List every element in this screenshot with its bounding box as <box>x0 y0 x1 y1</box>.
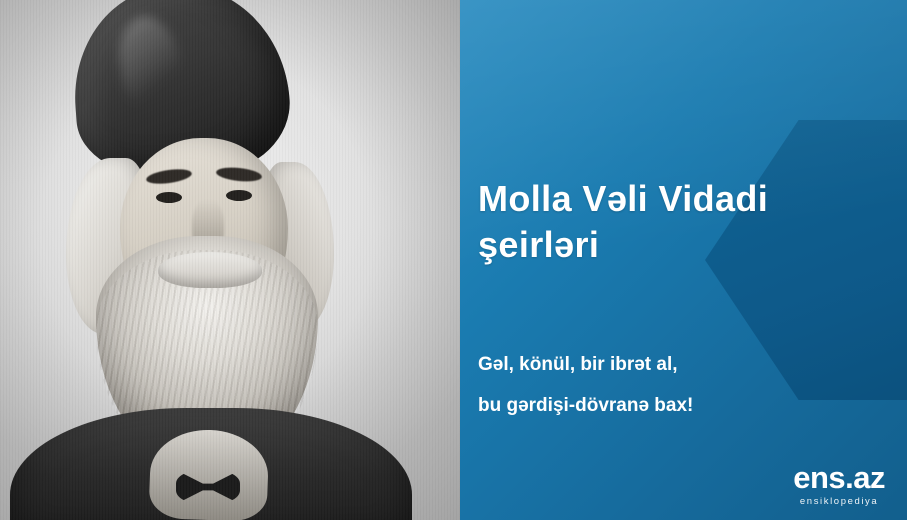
logo-tagline: ensiklopediya <box>793 497 885 507</box>
portrait-image <box>0 0 460 520</box>
site-logo[interactable]: ens.az ensiklopediya <box>793 462 885 507</box>
text-panel: Molla Vəli Vidadi şeirləri Gəl, könül, b… <box>460 0 907 520</box>
logo-wordmark: ens.az <box>793 462 885 493</box>
quote-line-2: bu gərdişi-dövranə bax! <box>478 396 878 415</box>
quote-line-1: Gəl, könül, bir ibrət al, <box>478 355 878 374</box>
portrait-vignette <box>0 0 460 520</box>
title-line-1: Molla Vəli Vidadi <box>478 176 878 222</box>
quote-card: Molla Vəli Vidadi şeirləri Gəl, könül, b… <box>0 0 907 520</box>
title-line-2: şeirləri <box>478 222 878 268</box>
page-title: Molla Vəli Vidadi şeirləri <box>478 176 878 268</box>
quote-text: Gəl, könül, bir ibrət al, bu gərdişi-döv… <box>478 355 878 437</box>
